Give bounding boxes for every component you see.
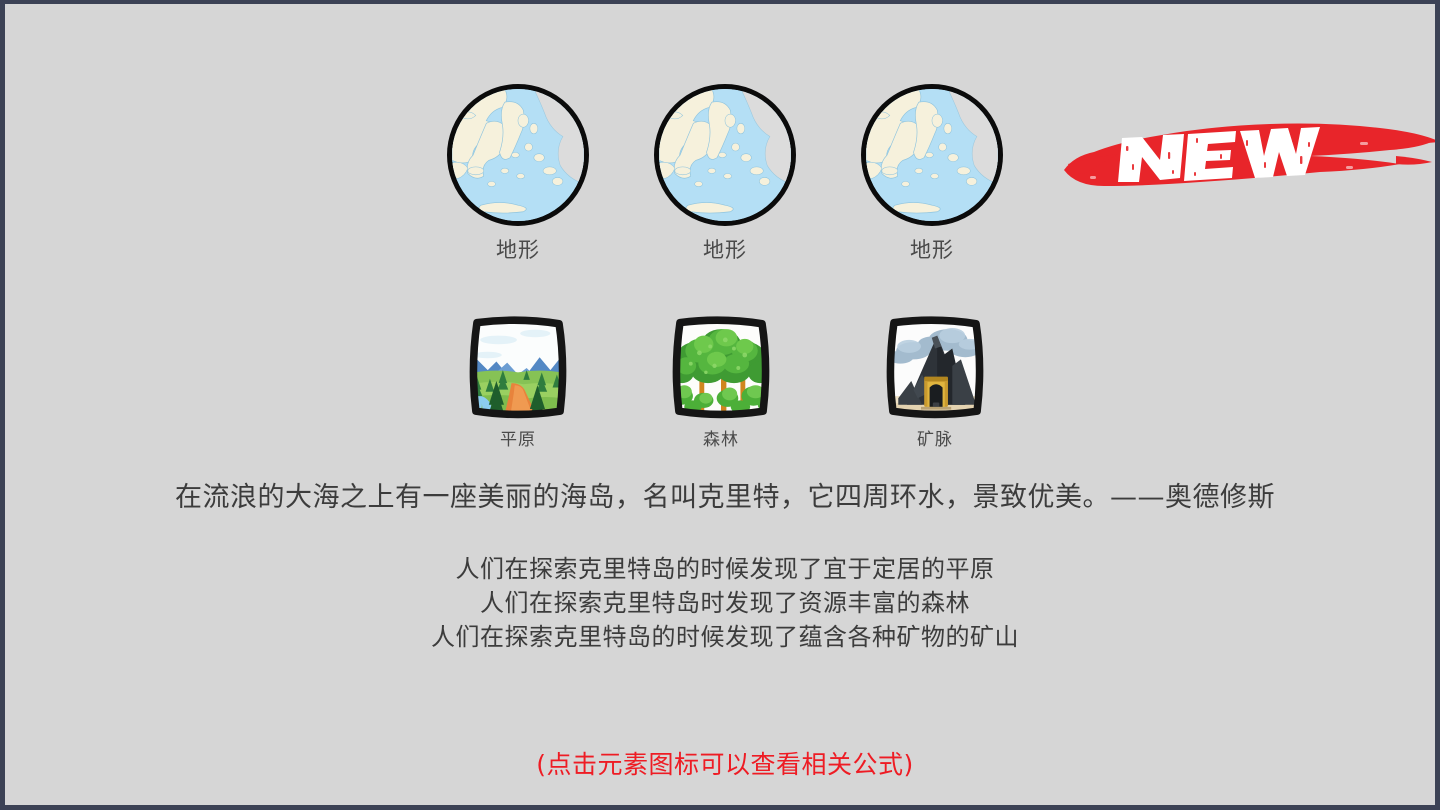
terrain-item-1[interactable]: 地形 (645, 84, 805, 261)
mine-mountain-icon[interactable] (881, 314, 989, 422)
event-line-mine: 人们在探索克里特岛的时候发现了蕴含各种矿物的矿山 (5, 620, 1440, 654)
terrain-item-label: 地形 (645, 240, 805, 261)
resource-item-plains[interactable]: 平原 (438, 314, 598, 449)
resource-item-forest[interactable]: 森林 (641, 314, 801, 449)
event-line-forest: 人们在探索克里特岛时发现了资源丰富的森林 (5, 586, 1440, 620)
terrain-icon-row: 地形 (438, 84, 1008, 284)
event-line-plains: 人们在探索克里特岛的时候发现了宜于定居的平原 (5, 552, 1440, 586)
discovery-event-log: 人们在探索克里特岛的时候发现了宜于定居的平原 人们在探索克里特岛时发现了资源丰富… (5, 552, 1440, 654)
resource-item-mine[interactable]: 矿脉 (855, 314, 1015, 449)
terrain-item-0[interactable]: 地形 (438, 84, 598, 261)
new-badge: NEW (1060, 112, 1440, 204)
aegean-map-icon[interactable] (447, 84, 589, 226)
resource-item-label: 平原 (438, 432, 598, 449)
terrain-item-label: 地形 (852, 240, 1012, 261)
game-canvas: 地形 (0, 0, 1440, 810)
formula-hint: (点击元素图标可以查看相关公式) (5, 752, 1440, 777)
terrain-item-label: 地形 (438, 240, 598, 261)
plains-icon[interactable] (464, 314, 572, 422)
terrain-item-2[interactable]: 地形 (852, 84, 1012, 261)
forest-icon[interactable] (667, 314, 775, 422)
aegean-map-icon[interactable] (654, 84, 796, 226)
island-quote: 在流浪的大海之上有一座美丽的海岛，名叫克里特，它四周环水，景致优美。——奥德修斯 (5, 482, 1440, 514)
resource-item-label: 矿脉 (855, 432, 1015, 449)
aegean-map-icon[interactable] (861, 84, 1003, 226)
resource-item-label: 森林 (641, 432, 801, 449)
resource-icon-row: 平原 (438, 314, 1008, 479)
